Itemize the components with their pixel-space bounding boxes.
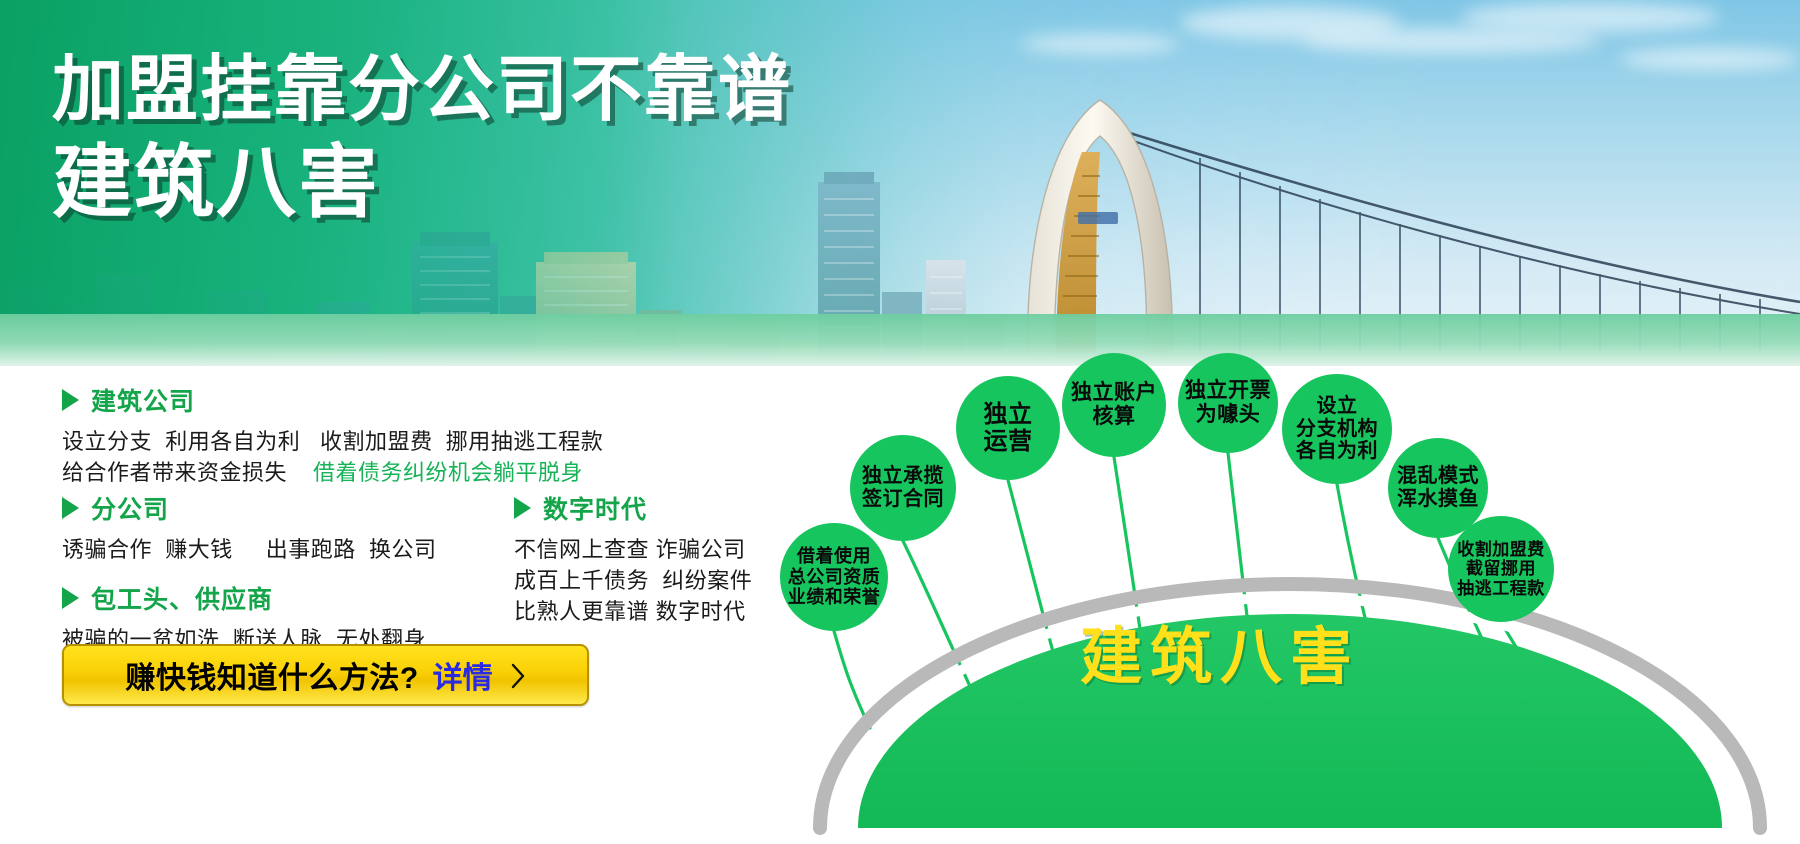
section-digital-era: 数字时代 不信网上查查 诈骗公司 成百上千债务 纠纷案件 比熟人更靠谱 数字时代 bbox=[514, 490, 752, 628]
section-heading: 分公司 bbox=[62, 490, 437, 526]
triangle-bullet-icon bbox=[62, 587, 79, 609]
section-line: 不信网上查查 诈骗公司 bbox=[514, 534, 752, 565]
page-title: 加盟挂靠分公司不靠谱 建筑八害 bbox=[52, 52, 792, 226]
section-line: 诱骗合作 赚大钱 出事跑路 换公司 bbox=[62, 534, 437, 565]
section-line: 给合作者带来资金损失借着债务纠纷机会躺平脱身 bbox=[62, 457, 603, 488]
hero-title-line1: 加盟挂靠分公司不靠谱 bbox=[52, 52, 792, 130]
triangle-bullet-icon bbox=[62, 497, 79, 519]
section-heading: 数字时代 bbox=[514, 490, 752, 526]
cta-link-label: 详情 bbox=[433, 653, 493, 697]
sections-two-column: 分公司 诱骗合作 赚大钱 出事跑路 换公司 数字时代 不信网上查查 诈骗公司 成… bbox=[62, 490, 437, 565]
triangle-bullet-icon bbox=[62, 389, 79, 411]
cta-main-label: 赚快钱知道什么方法? bbox=[125, 653, 418, 697]
triangle-bullet-icon bbox=[514, 497, 531, 519]
section-highlight-text: 借着债务纠纷机会躺平脱身 bbox=[313, 460, 583, 485]
section-branch-company: 分公司 诱骗合作 赚大钱 出事跑路 换公司 bbox=[62, 490, 437, 565]
section-title: 建筑公司 bbox=[91, 382, 195, 418]
hero-title-line2: 建筑八害 bbox=[52, 140, 792, 226]
harm-bubble[interactable]: 独立 运营 bbox=[956, 376, 1060, 480]
left-content-panel: 建筑公司 设立分支 利用各自为利 收割加盟费 挪用抽逃工程款 给合作者带来资金损… bbox=[0, 372, 840, 844]
chevron-right-icon bbox=[511, 663, 526, 689]
harm-bubble[interactable]: 独立账户 核算 bbox=[1062, 353, 1166, 457]
section-heading: 包工头、供应商 bbox=[62, 580, 426, 616]
section-line-text: 给合作者带来资金损失 bbox=[62, 460, 287, 485]
section-title: 数字时代 bbox=[543, 490, 647, 526]
section-heading: 建筑公司 bbox=[62, 382, 603, 418]
harm-bubble[interactable]: 独立承揽 签订合同 bbox=[850, 435, 956, 541]
details-cta-button[interactable]: 赚快钱知道什么方法? 详情 bbox=[62, 644, 589, 706]
section-title: 包工头、供应商 bbox=[91, 580, 273, 616]
harm-bubble[interactable]: 收割加盟费 截留挪用 抽逃工程款 bbox=[1448, 516, 1554, 622]
section-title: 分公司 bbox=[91, 490, 169, 526]
hero-banner: 加盟挂靠分公司不靠谱 建筑八害 bbox=[0, 0, 1800, 366]
section-construction-company: 建筑公司 设立分支 利用各自为利 收割加盟费 挪用抽逃工程款 给合作者带来资金损… bbox=[62, 382, 603, 488]
section-line: 比熟人更靠谱 数字时代 bbox=[514, 596, 752, 627]
harm-bubble[interactable]: 借着使用 总公司资质 业绩和荣誉 bbox=[780, 523, 888, 631]
harm-bubble[interactable]: 独立开票 为噱头 bbox=[1178, 353, 1278, 453]
eight-harms-diagram: 建筑八害 借着使用 总公司资质 业绩和荣誉独立承揽 签订合同独立 运营独立账户 … bbox=[780, 336, 1800, 844]
arch-center-label: 建筑八害 bbox=[970, 606, 1470, 696]
section-line: 设立分支 利用各自为利 收割加盟费 挪用抽逃工程款 bbox=[62, 426, 603, 457]
harm-bubble[interactable]: 设立 分支机构 各自为利 bbox=[1282, 374, 1392, 484]
section-line: 成百上千债务 纠纷案件 bbox=[514, 565, 752, 596]
